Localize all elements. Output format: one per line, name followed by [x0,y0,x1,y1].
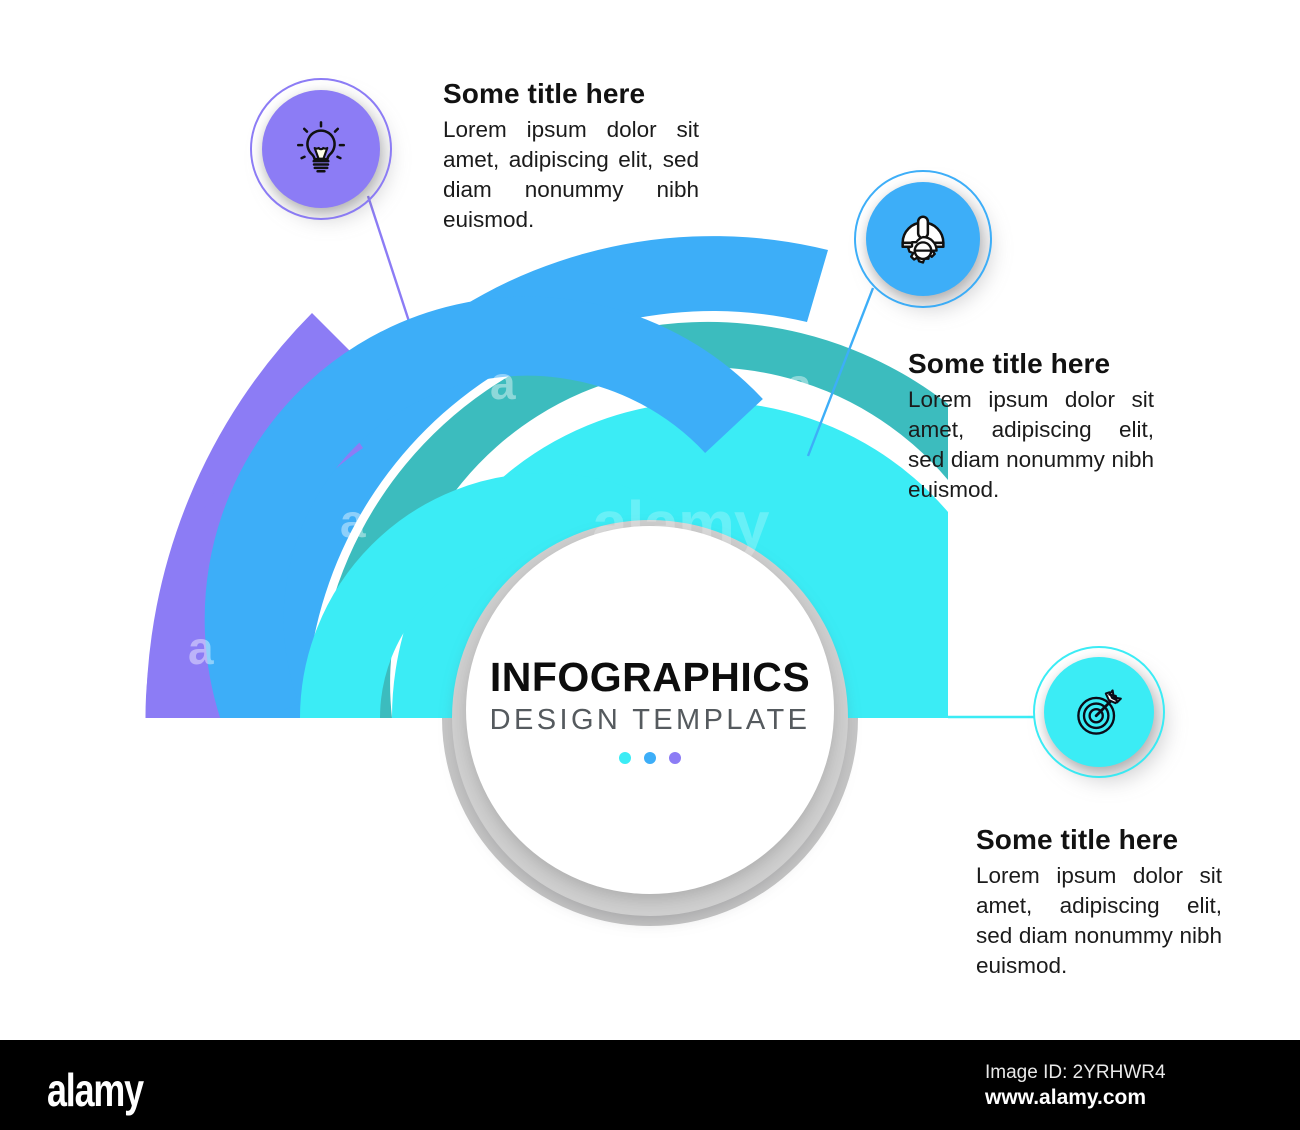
step-1-bubble-disc[interactable] [262,90,380,208]
image-id-label: Image ID: 2YRHWR4 [985,1062,1245,1084]
dot-1 [619,752,631,764]
step-3-icon-bubble[interactable] [1033,646,1165,778]
step-2-bubble-disc[interactable] [866,182,980,296]
page-title: INFOGRAPHICS [490,657,810,698]
alamy-url-label: www.alamy.com [985,1086,1245,1110]
infographic-canvas: INFOGRAPHICS DESIGN TEMPLATE [0,0,1300,1130]
page-subtitle: DESIGN TEMPLATE [490,704,811,737]
step-2-body: Lorem ipsum dolor sit amet, adipiscing e… [908,385,1154,505]
step-1-body: Lorem ipsum dolor sit amet, adipiscing e… [443,115,699,235]
step-3-body: Lorem ipsum dolor sit amet, adipiscing e… [976,861,1222,981]
step-2-title: Some title here [908,348,1154,379]
center-badge-disc[interactable]: INFOGRAPHICS DESIGN TEMPLATE [466,526,834,894]
step-1-title: Some title here [443,78,699,109]
alamy-footer-bar [0,1040,1300,1130]
dot-2 [644,752,656,764]
dot-group [619,752,681,764]
step-3-title: Some title here [976,824,1222,855]
dot-3 [669,752,681,764]
center-badge[interactable]: INFOGRAPHICS DESIGN TEMPLATE [452,520,848,916]
step-2-icon-bubble[interactable] [854,170,992,308]
step-2-text-block: Some title here Lorem ipsum dolor sit am… [908,348,1154,505]
step-3-bubble-disc[interactable] [1044,657,1154,767]
lightbulb-icon [290,118,352,180]
step-1-text-block: Some title here Lorem ipsum dolor sit am… [443,78,699,235]
alamy-logo: alamy [47,1063,143,1117]
helmet-gear-icon [892,208,954,270]
step-3-text-block: Some title here Lorem ipsum dolor sit am… [976,824,1222,981]
target-arrow-icon [1069,682,1129,742]
step-1-icon-bubble[interactable] [250,78,392,220]
